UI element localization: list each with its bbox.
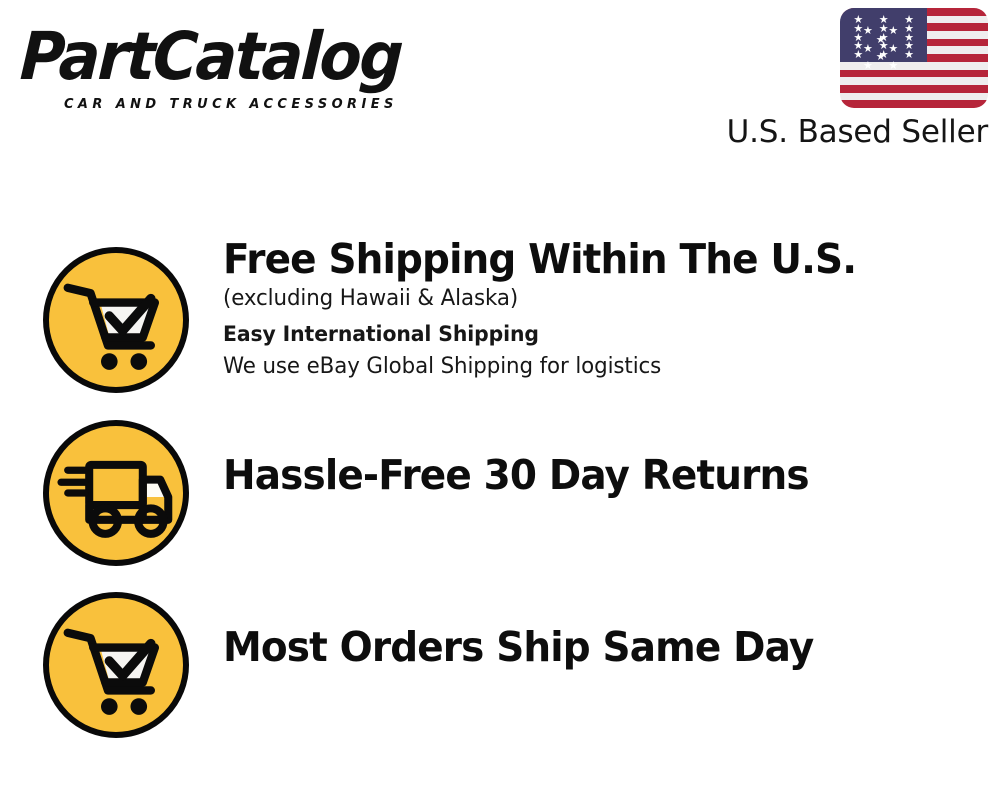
shopping-cart-check-icon (43, 247, 189, 393)
brand-tagline: CAR AND TRUCK ACCESSORIES (64, 96, 398, 112)
feature-row: Free Shipping Within The U.S. (excluding… (0, 225, 1000, 420)
feature-subline-international-detail: We use eBay Global Shipping for logistic… (223, 351, 967, 383)
brand-logo[interactable]: PartCatalog CAR AND TRUCK ACCESSORIES (22, 22, 492, 117)
feature-headline: Hassle-Free 30 Day Returns (223, 451, 952, 499)
us-based-seller-badge: ★ ★ ★ ★ ★ ★ ★ ★ ★ ★ ★ ★ ★ ★ ★ ★ ★ ★ ★ ★ … (658, 8, 988, 150)
feature-subline-exclusions: (excluding Hawaii & Alaska) (223, 283, 967, 315)
feature-subline-international-title: Easy International Shipping (223, 318, 967, 351)
feature-row: Hassle-Free 30 Day Returns (0, 398, 1000, 570)
feature-row: Most Orders Ship Same Day (0, 570, 1000, 745)
page-header: PartCatalog CAR AND TRUCK ACCESSORIES ★ … (0, 0, 1000, 170)
us-based-seller-label: U.S. Based Seller (658, 114, 988, 150)
feature-text-block: Hassle-Free 30 Day Returns (223, 451, 990, 499)
feature-text-block: Free Shipping Within The U.S. (excluding… (223, 235, 990, 383)
flag-canton: ★ ★ ★ ★ ★ ★ ★ ★ ★ ★ ★ ★ ★ ★ ★ ★ ★ ★ ★ ★ … (840, 8, 927, 62)
shopping-cart-check-icon (43, 592, 189, 738)
flag-star-row: ★ ★ ★ ★ ★ (840, 49, 927, 71)
delivery-truck-icon (43, 420, 189, 566)
flag-stripe (840, 85, 988, 93)
us-flag-icon: ★ ★ ★ ★ ★ ★ ★ ★ ★ ★ ★ ★ ★ ★ ★ ★ ★ ★ ★ ★ … (840, 8, 988, 108)
feature-text-block: Most Orders Ship Same Day (223, 623, 990, 671)
flag-stripe (840, 100, 988, 108)
feature-headline: Free Shipping Within The U.S. (223, 235, 952, 283)
brand-wordmark: PartCatalog (19, 22, 460, 92)
feature-headline: Most Orders Ship Same Day (223, 623, 952, 671)
